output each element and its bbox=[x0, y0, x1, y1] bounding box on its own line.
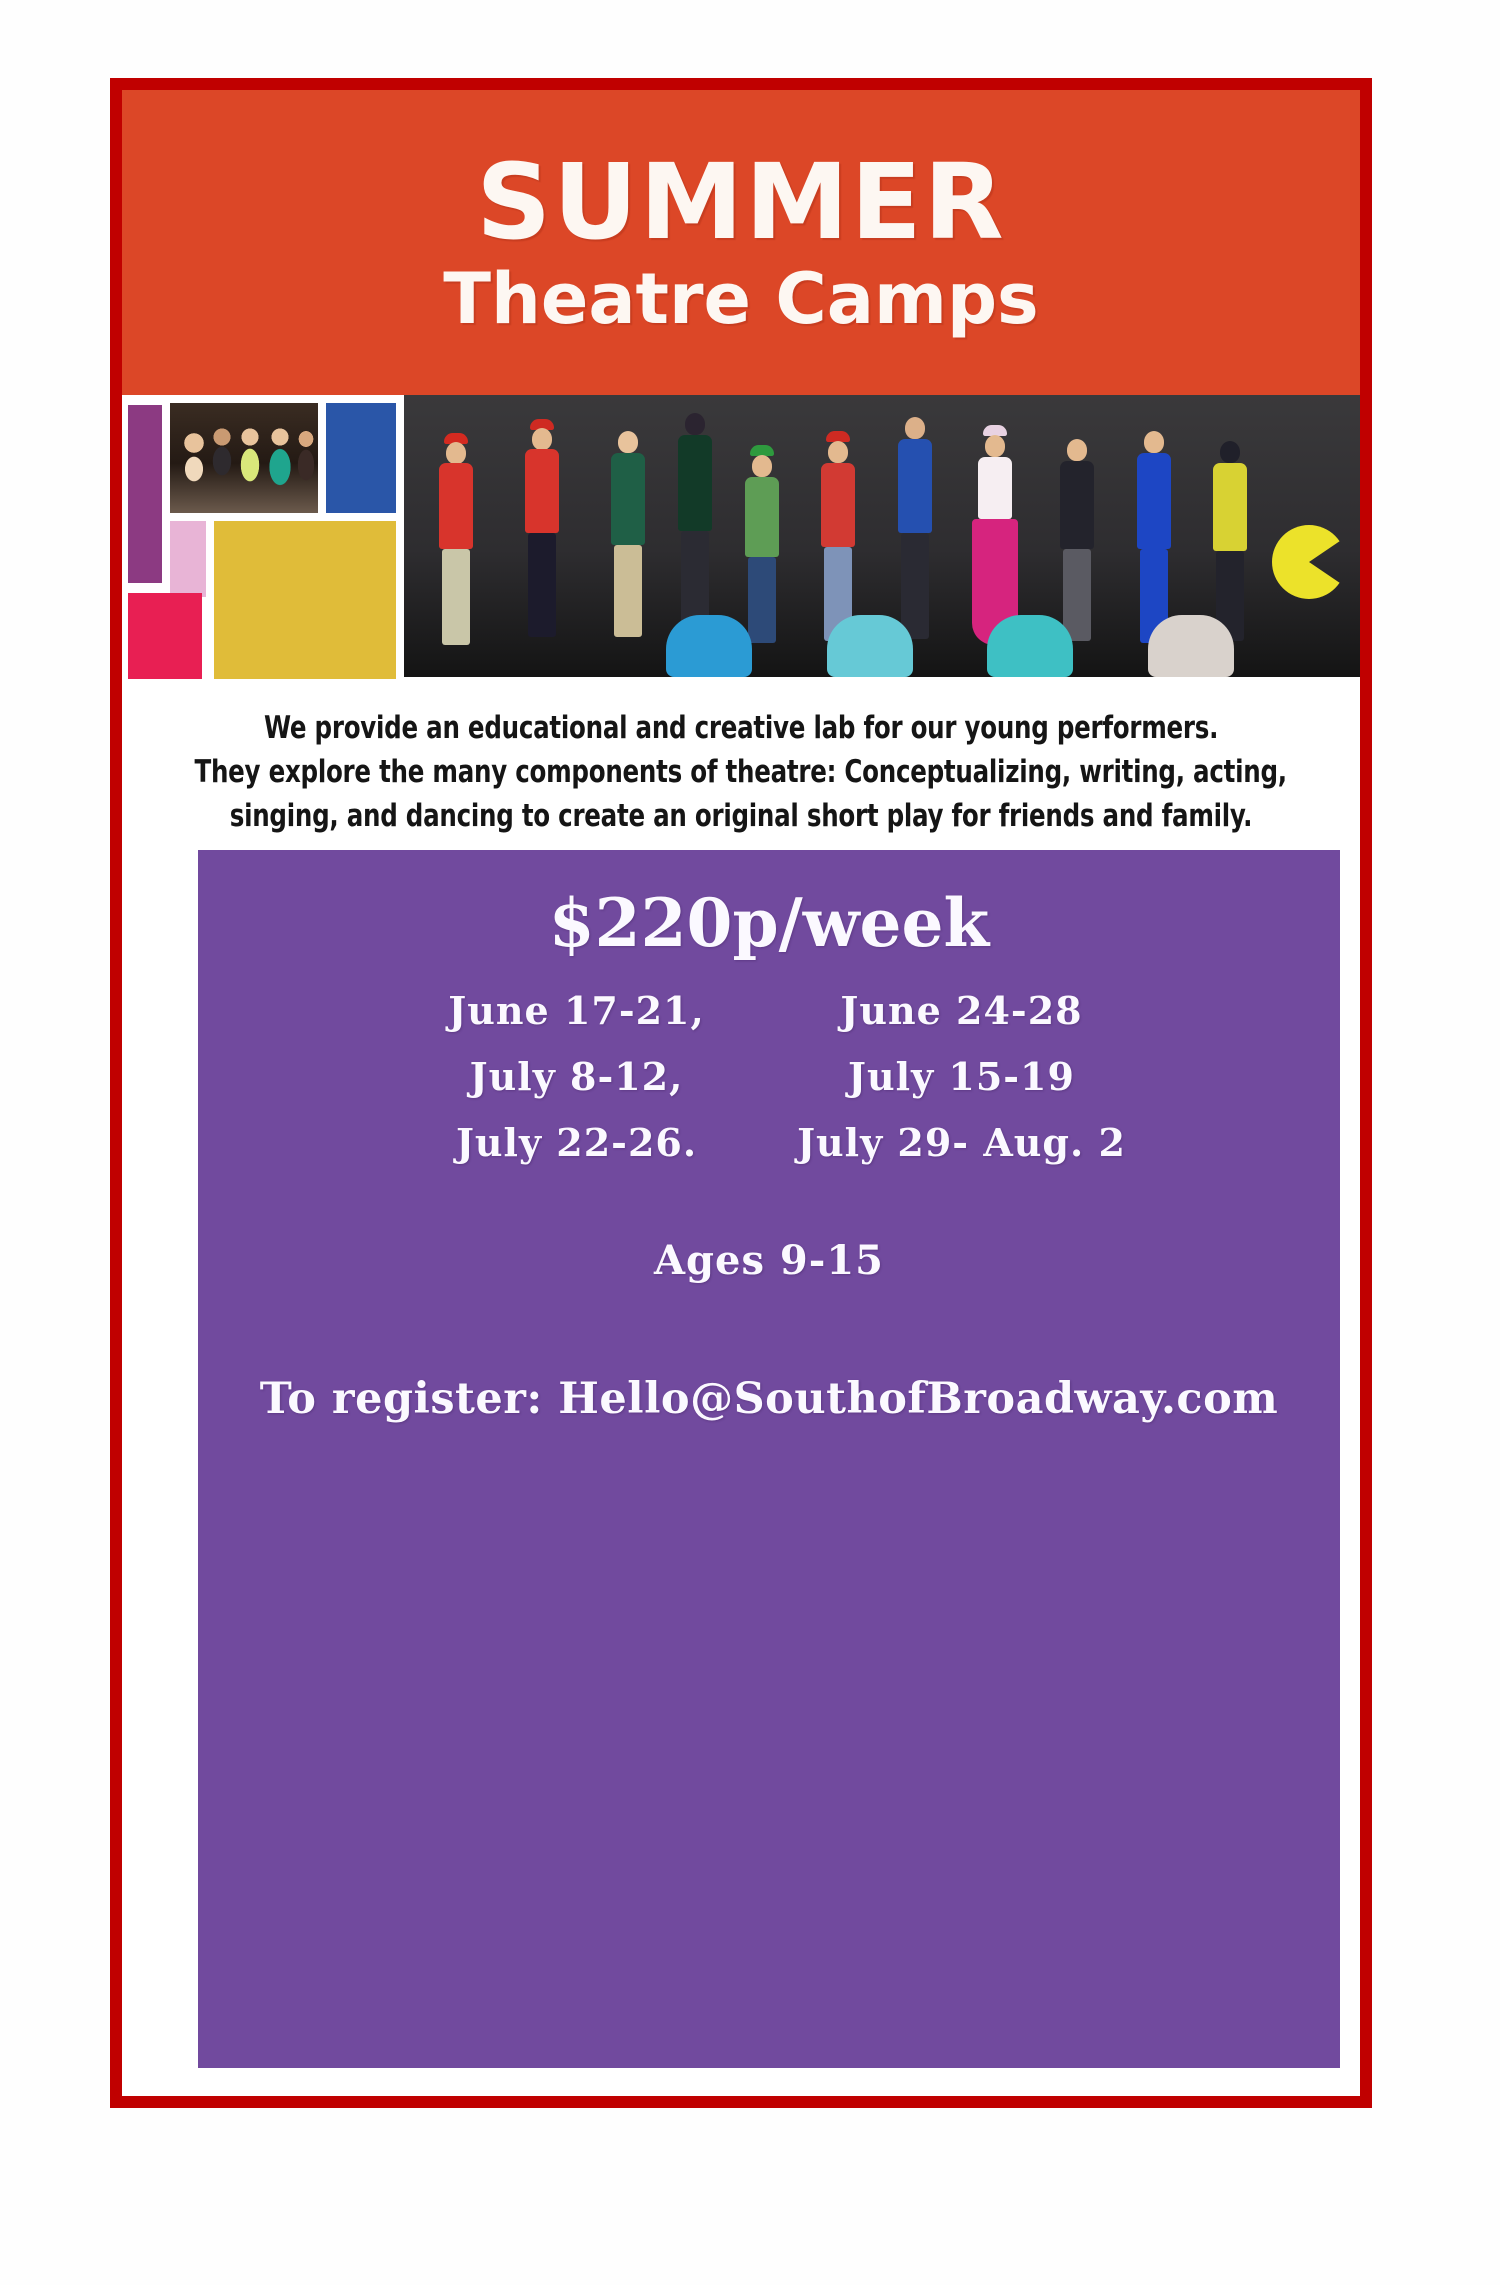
costume-figure bbox=[605, 427, 651, 663]
poster-frame: SUMMER Theatre Camps bbox=[110, 78, 1372, 2108]
session-date: July 22-26. bbox=[389, 1122, 764, 1164]
ages-label: Ages 9-15 bbox=[198, 1237, 1340, 1284]
mosaic-photo-kids bbox=[170, 403, 318, 513]
costume-figure bbox=[519, 419, 565, 663]
price-label: $220p/week bbox=[198, 890, 1340, 956]
costume-figure bbox=[987, 615, 1073, 677]
poster-header: SUMMER Theatre Camps bbox=[122, 90, 1360, 395]
group-costume-photo bbox=[404, 395, 1360, 677]
description-line-3: singing, and dancing to create an origin… bbox=[230, 794, 1253, 838]
description-line-2: They explore the many components of thea… bbox=[195, 750, 1287, 794]
session-date: June 17-21, bbox=[389, 990, 764, 1032]
mosaic-yellow-block bbox=[214, 521, 396, 679]
costume-figure bbox=[827, 615, 913, 677]
costume-figure bbox=[433, 433, 479, 663]
poster-inner: SUMMER Theatre Camps bbox=[122, 90, 1360, 2096]
poster-page: SUMMER Theatre Camps bbox=[0, 0, 1500, 2285]
page-subtitle: Theatre Camps bbox=[443, 263, 1038, 336]
mosaic-purple-block bbox=[128, 405, 162, 583]
info-panel: $220p/week June 17-21, June 24-28 July 8… bbox=[198, 850, 1340, 2068]
session-date: July 8-12, bbox=[389, 1056, 764, 1098]
mosaic-crimson-block bbox=[128, 593, 202, 679]
collage-strip bbox=[122, 395, 1360, 680]
left-mosaic bbox=[126, 395, 398, 680]
session-date: July 29- Aug. 2 bbox=[774, 1122, 1149, 1164]
session-date: July 15-19 bbox=[774, 1056, 1149, 1098]
session-date: June 24-28 bbox=[774, 990, 1149, 1032]
description-line-1: We provide an educational and creative l… bbox=[264, 706, 1218, 750]
costume-figure bbox=[666, 615, 752, 677]
mosaic-pink-block bbox=[170, 521, 206, 597]
session-dates-grid: June 17-21, June 24-28 July 8-12, July 1… bbox=[389, 990, 1149, 1163]
mosaic-blue-block bbox=[326, 403, 396, 513]
front-row-kids bbox=[653, 605, 1322, 677]
description-block: We provide an educational and creative l… bbox=[122, 690, 1360, 845]
mosaic-photo-image bbox=[170, 403, 318, 513]
page-title: SUMMER bbox=[476, 149, 1005, 255]
costume-figure bbox=[1148, 615, 1234, 677]
register-contact[interactable]: To register: Hello@SouthofBroadway.com bbox=[198, 1374, 1340, 1424]
